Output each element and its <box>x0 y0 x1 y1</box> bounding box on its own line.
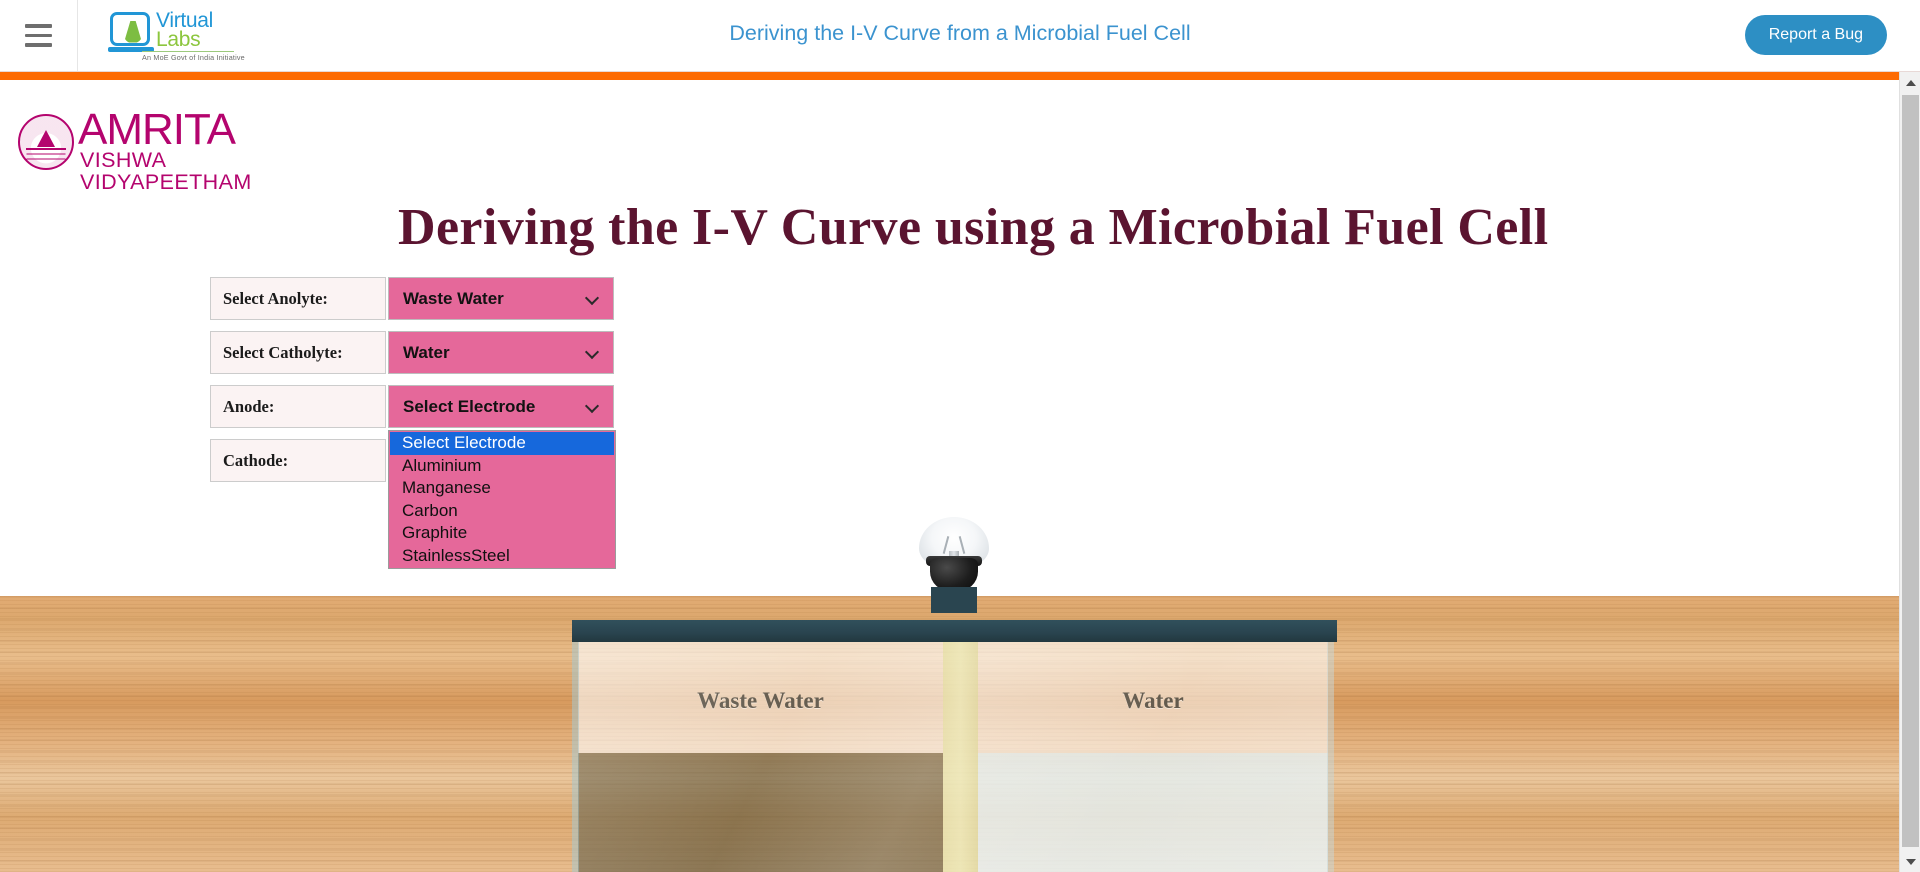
hamburger-icon-line <box>25 43 52 47</box>
select-anolyte[interactable]: Waste Water <box>388 277 614 320</box>
microbial-fuel-cell-tank: Waste Water Water <box>572 596 1337 872</box>
dropdown-option[interactable]: Manganese <box>390 477 614 500</box>
scrollbar-thumb[interactable] <box>1902 95 1919 847</box>
cathode-chamber: Water <box>978 640 1328 872</box>
logo-text-labs: Labs <box>156 28 200 52</box>
form-row-anolyte: Select Anolyte: Waste Water <box>210 277 620 331</box>
anode-chamber-label: Waste Water <box>578 688 943 714</box>
anolyte-liquid <box>578 753 943 872</box>
bulb-stand <box>931 587 977 613</box>
vertical-scrollbar[interactable] <box>1899 72 1920 872</box>
logo-tagline: An MoE Govt of India Initiative <box>142 53 245 62</box>
label-cathode: Cathode: <box>210 439 386 482</box>
institution-name: AMRITA <box>78 108 235 152</box>
apparatus-scene: Waste Water Water <box>0 596 1899 872</box>
form-row-catholyte: Select Catholyte: Water <box>210 331 620 385</box>
chevron-down-icon <box>586 292 599 305</box>
tank-glass-body: Waste Water Water <box>578 640 1328 872</box>
chevron-down-icon <box>586 400 599 413</box>
dropdown-option[interactable]: Graphite <box>390 522 614 545</box>
proton-exchange-membrane <box>943 640 978 872</box>
page-content: AMRITA VISHWA VIDYAPEETHAM Deriving the … <box>0 80 1899 872</box>
app-bar: Virtual Labs An MoE Govt of India Initia… <box>0 0 1920 72</box>
anode-chamber: Waste Water <box>578 640 943 872</box>
label-anolyte: Select Anolyte: <box>210 277 386 320</box>
label-anode: Anode: <box>210 385 386 428</box>
cathode-chamber-label: Water <box>978 688 1328 714</box>
dropdown-option[interactable]: StainlessSteel <box>390 545 614 568</box>
select-anolyte-value: Waste Water <box>403 289 586 309</box>
institution-subtitle: VISHWA VIDYAPEETHAM <box>80 150 308 193</box>
anode-electrode-dropdown-list[interactable]: Select Electrode Aluminium Manganese Car… <box>388 430 616 569</box>
dropdown-option[interactable]: Select Electrode <box>390 432 614 455</box>
app-bar-title: Deriving the I-V Curve from a Microbial … <box>0 21 1920 46</box>
hamburger-icon-line <box>25 34 52 38</box>
hamburger-icon-line <box>25 24 52 28</box>
dropdown-option[interactable]: Carbon <box>390 500 614 523</box>
tank-lid <box>572 620 1337 642</box>
select-anode-value: Select Electrode <box>403 397 586 417</box>
chevron-down-icon <box>586 346 599 359</box>
report-bug-button[interactable]: Report a Bug <box>1745 15 1887 55</box>
catholyte-liquid <box>978 753 1328 872</box>
triangle-down-icon[interactable] <box>1900 851 1920 872</box>
hamburger-menu-button[interactable] <box>0 0 78 71</box>
label-catholyte: Select Catholyte: <box>210 331 386 374</box>
orange-divider-rule <box>0 72 1899 80</box>
virtual-labs-logo[interactable]: Virtual Labs An MoE Govt of India Initia… <box>108 8 238 64</box>
select-anode[interactable]: Select Electrode <box>388 385 614 428</box>
select-catholyte-value: Water <box>403 343 586 363</box>
flask-icon <box>110 12 150 46</box>
select-catholyte[interactable]: Water <box>388 331 614 374</box>
amrita-logo: AMRITA VISHWA VIDYAPEETHAM <box>18 110 308 172</box>
dropdown-option[interactable]: Aluminium <box>390 455 614 478</box>
page-title: Deriving the I-V Curve using a Microbial… <box>398 198 1548 257</box>
amrita-seal-icon <box>18 114 74 170</box>
light-bulb-icon <box>913 517 995 597</box>
triangle-up-icon[interactable] <box>1900 72 1920 93</box>
